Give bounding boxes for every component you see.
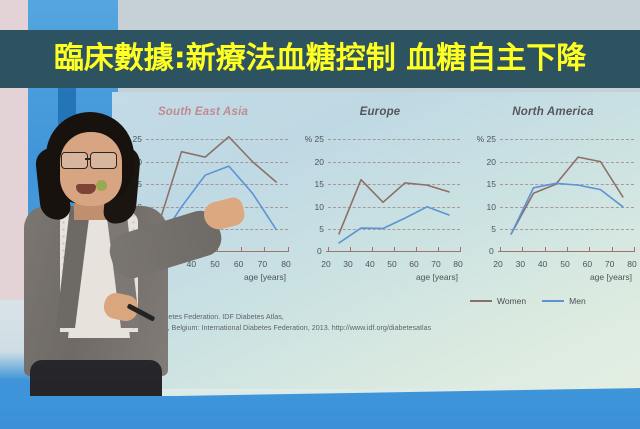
- presenter-face: [60, 132, 122, 206]
- x-axis-tick-label: 70: [258, 259, 267, 269]
- chart-legend: Women Men: [470, 296, 586, 306]
- x-axis-tick-label: 80: [281, 259, 290, 269]
- plot-area: 5101520% 25203040506070800age [years]: [328, 130, 460, 252]
- x-axis-label: age [years]: [416, 272, 458, 282]
- y-axis-tick-label: 15: [487, 179, 496, 189]
- x-axis-tick-label: 60: [234, 259, 243, 269]
- x-axis-tick: [288, 247, 289, 252]
- y-axis-tick-label: 5: [491, 224, 496, 234]
- presenter-photo: [8, 88, 176, 429]
- legend-swatch-men: [542, 300, 564, 303]
- legend-label-women: Women: [497, 296, 526, 306]
- title-banner: 臨床數據:新療法血糖控制 血糖自主下降: [0, 30, 640, 88]
- y-axis-tick-label: % 25: [305, 134, 324, 144]
- y-axis-tick-label: 10: [315, 202, 324, 212]
- x-axis-tick-label: 70: [605, 259, 614, 269]
- legend-swatch-women: [470, 300, 492, 303]
- title-banner-text: 臨床數據:新療法血糖控制 血糖自主下降: [54, 44, 586, 74]
- presenter-glasses-right: [90, 152, 117, 169]
- charts-row: South East Asia 5101520% 252030405060708…: [112, 96, 640, 296]
- chart-north-america: North America 5101520% 25203040506070800…: [466, 96, 640, 296]
- x-axis-tick-label: 20: [321, 259, 330, 269]
- x-axis-tick: [634, 247, 635, 252]
- x-axis-tick-label: 20: [493, 259, 502, 269]
- x-axis-tick-label: 60: [583, 259, 592, 269]
- x-axis-label: age [years]: [244, 272, 286, 282]
- series-canvas: [328, 130, 460, 252]
- x-axis-tick-label: 80: [453, 259, 462, 269]
- plot-area: 5101520% 25203040506070800age [years]: [500, 130, 634, 252]
- legend-label-men: Men: [569, 296, 586, 306]
- floor-blue-band: [0, 396, 640, 429]
- x-axis-tick-label: 50: [560, 259, 569, 269]
- presenter-microphone: [96, 180, 107, 191]
- x-axis-tick-label: 40: [365, 259, 374, 269]
- x-axis-tick-label: 30: [516, 259, 525, 269]
- x-axis-tick: [460, 247, 461, 252]
- series-line-men: [511, 183, 623, 234]
- x-axis-tick-label: 70: [431, 259, 440, 269]
- y-axis-tick-label: 10: [487, 202, 496, 212]
- chart-title: Europe: [294, 106, 466, 118]
- x-axis-label: age [years]: [590, 272, 632, 282]
- y-axis-tick-label: % 25: [477, 134, 496, 144]
- x-axis-tick-label: 40: [538, 259, 547, 269]
- y-axis-origin-label: 0: [489, 246, 494, 256]
- legend-item-men: Men: [542, 296, 586, 306]
- x-axis-tick-label: 80: [627, 259, 636, 269]
- presenter-glasses-bridge: [85, 158, 91, 160]
- x-axis-tick-label: 50: [210, 259, 219, 269]
- series-line-women: [339, 180, 449, 234]
- chart-europe: Europe 5101520% 25203040506070800age [ye…: [294, 96, 466, 296]
- y-axis-tick-label: 20: [487, 157, 496, 167]
- screenshot-stage: South East Asia 5101520% 252030405060708…: [0, 0, 640, 429]
- y-axis-origin-label: 0: [317, 246, 322, 256]
- presenter-glasses-left: [61, 152, 88, 169]
- x-axis-tick-label: 60: [409, 259, 418, 269]
- series-canvas: [500, 130, 634, 252]
- series-line-men: [339, 207, 449, 243]
- y-axis-tick-label: 5: [319, 224, 324, 234]
- x-axis-tick-label: 30: [343, 259, 352, 269]
- presenter-mouth: [76, 184, 96, 194]
- chart-title: North America: [466, 106, 640, 118]
- y-axis-tick-label: 15: [315, 179, 324, 189]
- y-axis-tick-label: 20: [315, 157, 324, 167]
- x-axis-tick-label: 50: [387, 259, 396, 269]
- series-line-women: [511, 157, 623, 234]
- legend-item-women: Women: [470, 296, 526, 306]
